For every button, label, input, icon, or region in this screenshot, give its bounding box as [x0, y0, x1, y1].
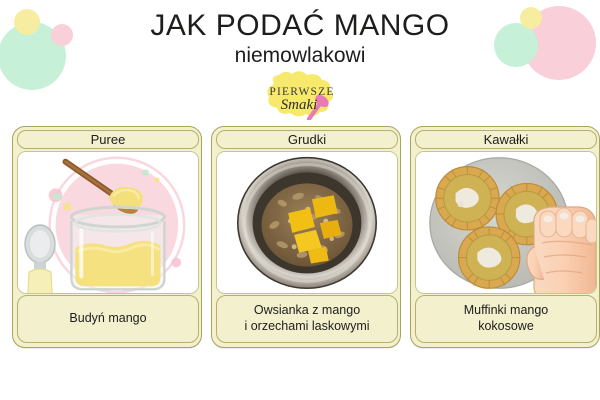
muffin-icon [459, 227, 520, 288]
infographic-canvas: JAK PODAĆ MANGO niemowlakowi PIERWSZE Sm… [0, 0, 600, 400]
glass-jar-icon [71, 207, 165, 289]
baby-fist-icon [522, 195, 597, 294]
header-block: JAK PODAĆ MANGO niemowlakowi [0, 0, 600, 67]
caption-line-2: kokosowe [464, 319, 549, 335]
card-caption-kawalki: Muffinki mango kokosowe [415, 295, 597, 343]
logo-line2: Smaki [281, 97, 318, 113]
card-header-puree: Puree [17, 130, 199, 149]
baby-spoon-icon [20, 222, 60, 294]
caption-line-2: i orzechami laskowymi [244, 319, 369, 335]
page-subtitle: niemowlakowi [0, 45, 600, 67]
yellow-confetti-icon [63, 203, 70, 210]
card-puree[interactable]: Puree [12, 126, 202, 348]
card-header-label: Kawałki [484, 132, 529, 147]
mango-coconut-muffins-photo [415, 151, 597, 294]
cards-row: Puree [0, 126, 600, 354]
card-header-label: Grudki [288, 132, 326, 147]
muffin-icon [436, 167, 499, 230]
card-caption-grudki: Owsianka z mango i orzechami laskowymi [216, 295, 398, 343]
pierwsze-smaki-logo: PIERWSZE Smaki [252, 70, 352, 120]
mango-pudding-jar-photo [17, 151, 199, 294]
caption-line-1: Owsianka z mango [244, 303, 369, 319]
mango-hazelnut-oatmeal-photo [216, 151, 398, 294]
card-header-kawalki: Kawałki [415, 130, 597, 149]
caption-line-1: Muffinki mango [464, 303, 549, 319]
card-kawalki[interactable]: Kawałki [410, 126, 600, 348]
page-title: JAK PODAĆ MANGO [0, 10, 600, 42]
card-header-label: Puree [91, 132, 126, 147]
card-caption-puree: Budyń mango [17, 295, 199, 343]
card-grudki[interactable]: Grudki [211, 126, 401, 348]
mint-confetti-icon [54, 193, 61, 200]
caption-line-1: Budyń mango [69, 311, 146, 327]
card-header-grudki: Grudki [216, 130, 398, 149]
